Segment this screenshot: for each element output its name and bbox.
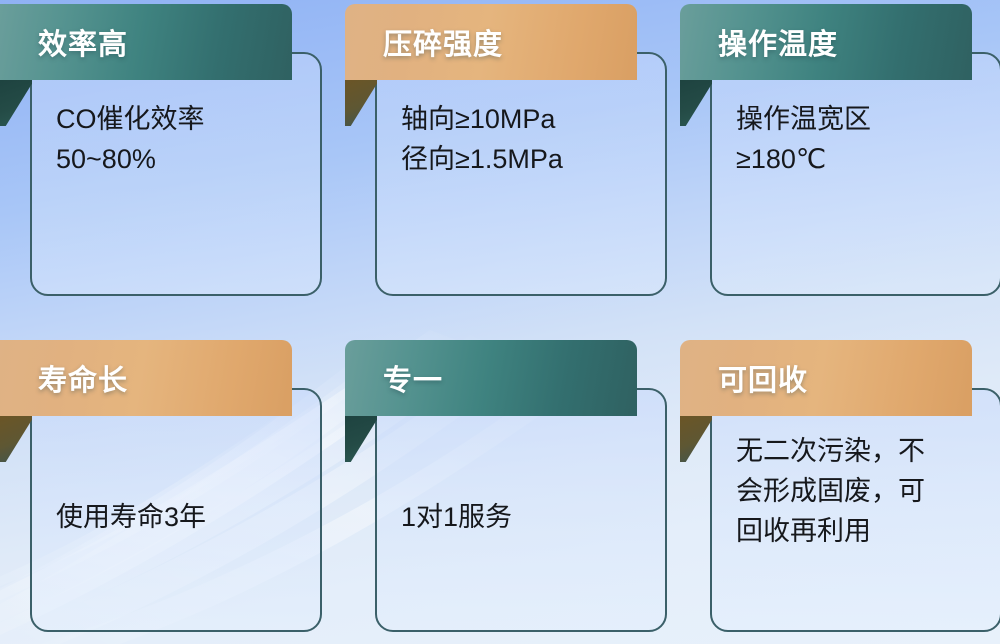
- card-header-banner-recyclable: 可回收: [680, 340, 972, 416]
- card-text-recyclable: 无二次污染，不 会形成固废，可 回收再利用: [736, 432, 982, 552]
- card-title-efficiency: 效率高: [38, 21, 128, 63]
- card-left-border-stub: [375, 416, 377, 462]
- card-title-long-life: 寿命长: [38, 357, 128, 399]
- card-text-efficiency: CO催化效率 50~80%: [56, 100, 302, 180]
- folded-corner-icon: [680, 80, 712, 126]
- card-title-recyclable: 可回收: [718, 357, 808, 399]
- card-header-banner-operating-temperature: 操作温度: [680, 4, 972, 80]
- card-title-operating-temperature: 操作温度: [718, 21, 838, 63]
- folded-corner-icon: [0, 80, 32, 126]
- card-text-operating-temperature: 操作温宽区 ≥180℃: [736, 100, 982, 180]
- card-left-border-stub: [710, 416, 712, 462]
- card-title-crush-strength: 压碎强度: [383, 21, 503, 63]
- feature-card-recyclable[interactable]: 可回收 无二次污染，不 会形成固废，可 回收再利用: [680, 340, 1000, 632]
- folded-corner-icon: [345, 416, 377, 462]
- feature-card-grid: 效率高 CO催化效率 50~80% 压碎强度 轴向≥10MPa 径向≥1.5MP…: [0, 0, 1000, 644]
- card-left-border-stub: [710, 80, 712, 126]
- card-title-dedicated-service: 专一: [383, 357, 443, 399]
- feature-card-long-life[interactable]: 寿命长 使用寿命3年: [0, 340, 322, 632]
- folded-corner-icon: [345, 80, 377, 126]
- card-left-border-stub: [375, 80, 377, 126]
- card-left-border-stub: [30, 416, 32, 462]
- feature-card-operating-temperature[interactable]: 操作温度 操作温宽区 ≥180℃: [680, 4, 1000, 296]
- card-header-banner-dedicated-service: 专一: [345, 340, 637, 416]
- card-header-banner-long-life: 寿命长: [0, 340, 292, 416]
- card-text-crush-strength: 轴向≥10MPa 径向≥1.5MPa: [401, 100, 647, 180]
- feature-card-dedicated-service[interactable]: 专一 1对1服务: [345, 340, 667, 632]
- folded-corner-icon: [0, 416, 32, 462]
- infographic-page: 效率高 CO催化效率 50~80% 压碎强度 轴向≥10MPa 径向≥1.5MP…: [0, 0, 1000, 644]
- feature-card-crush-strength[interactable]: 压碎强度 轴向≥10MPa 径向≥1.5MPa: [345, 4, 667, 296]
- folded-corner-icon: [680, 416, 712, 462]
- card-left-border-stub: [30, 80, 32, 126]
- card-header-banner-crush-strength: 压碎强度: [345, 4, 637, 80]
- card-text-dedicated-service: 1对1服务: [401, 498, 647, 538]
- card-text-long-life: 使用寿命3年: [56, 498, 302, 538]
- card-header-banner-efficiency: 效率高: [0, 4, 292, 80]
- feature-card-efficiency[interactable]: 效率高 CO催化效率 50~80%: [0, 4, 322, 296]
